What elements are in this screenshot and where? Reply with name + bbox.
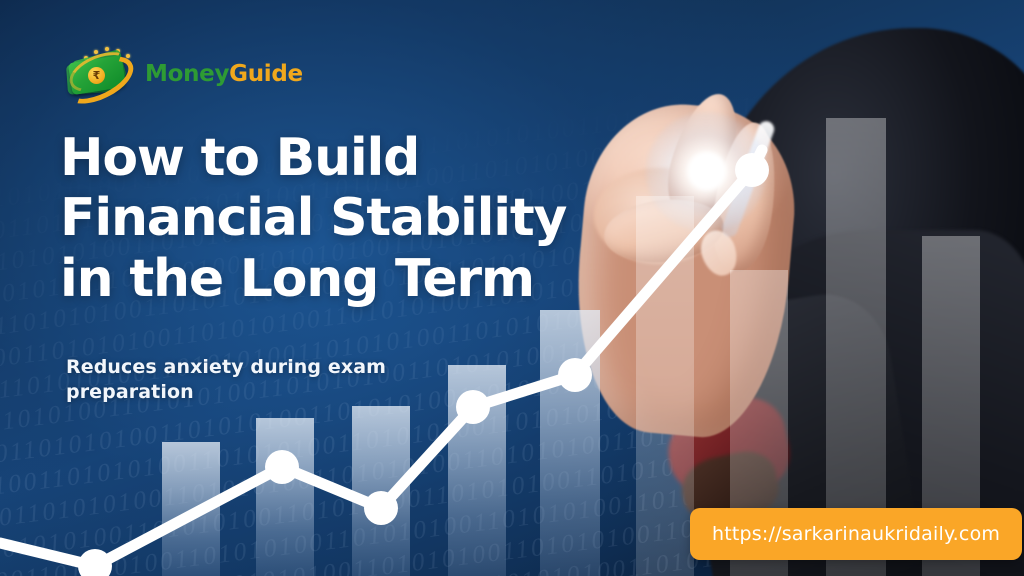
banner-root: 0101010011010101001101010100110101010011… — [0, 0, 1024, 576]
headline-line-3: in the Long Term — [60, 249, 620, 309]
chart-data-point — [558, 358, 592, 392]
chart-data-point — [735, 153, 769, 187]
headline-line-2: Financial Stability — [60, 188, 620, 248]
brand-logo[interactable]: ₹ MoneyGuide — [62, 47, 303, 101]
chart-data-point — [78, 549, 112, 576]
headline-line-1: How to Build — [60, 128, 620, 188]
brand-name-guide: Guide — [229, 61, 303, 87]
chart-data-point — [265, 450, 299, 484]
brand-name: MoneyGuide — [145, 61, 303, 87]
chart-data-point — [364, 491, 398, 525]
brand-name-money: Money — [145, 61, 229, 87]
money-note-rupee-icon: ₹ — [62, 47, 136, 101]
subtitle: Reduces anxiety during exam preparation — [66, 355, 446, 406]
website-url-badge[interactable]: https://sarkarinaukridaily.com — [690, 508, 1022, 560]
chart-data-point — [456, 390, 490, 424]
page-title: How to Build Financial Stability in the … — [60, 128, 620, 309]
